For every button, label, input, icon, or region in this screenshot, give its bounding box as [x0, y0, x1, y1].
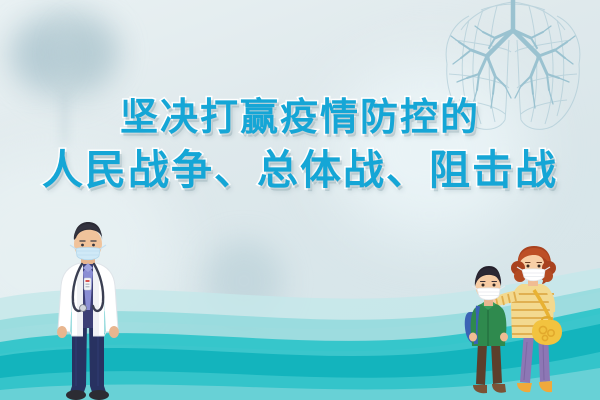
doctor-figure — [36, 218, 140, 400]
blurred-tree-silhouette — [18, 8, 114, 100]
headline-line-1: 坚决打赢疫情防控的 — [0, 98, 600, 136]
family-figures — [462, 246, 594, 400]
blurred-tree-lobe-right — [62, 24, 120, 80]
blurred-tree-lobe-left — [8, 26, 64, 84]
poster-canvas: 坚决打赢疫情防控的 人民战争、总体战、阻击战 — [0, 0, 600, 400]
boy-figure — [465, 266, 508, 393]
headline-line-2: 人民战争、总体战、阻击战 — [0, 150, 600, 191]
page-title: 坚决打赢疫情防控的 人民战争、总体战、阻击战 — [0, 98, 600, 191]
